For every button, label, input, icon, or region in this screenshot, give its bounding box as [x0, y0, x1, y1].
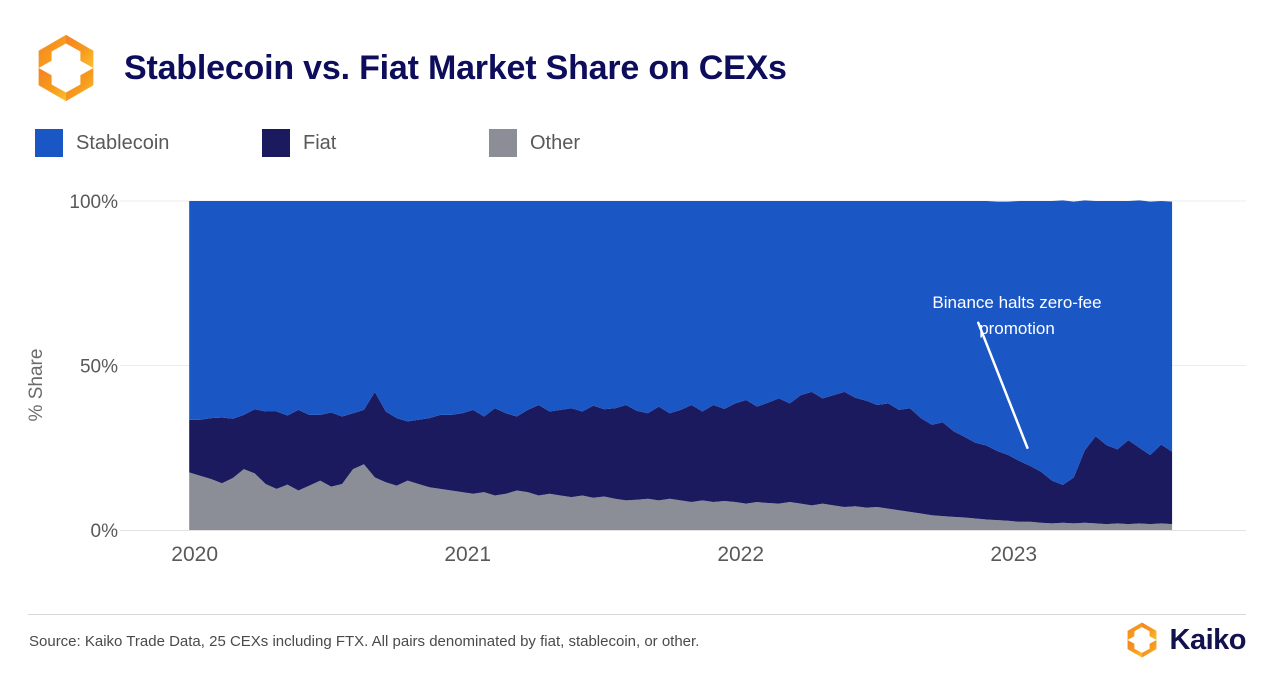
chart-area: 0%50%100% 2020202120222023 % Share Binan…: [0, 180, 1274, 590]
y-axis-tick-labels: 0%50%100%: [69, 192, 118, 542]
y-axis-title-label: % Share: [26, 349, 47, 422]
page-title: Stablecoin vs. Fiat Market Share on CEXs: [124, 49, 787, 88]
annotation-text-line1: Binance halts zero-fee: [932, 293, 1101, 312]
legend-label-fiat: Fiat: [303, 132, 336, 155]
x-tick-label: 2022: [717, 543, 764, 566]
legend-swatch-stablecoin: [35, 129, 63, 157]
y-tick-label: 100%: [69, 192, 118, 213]
legend-label-other: Other: [530, 132, 580, 155]
legend-item-fiat[interactable]: Fiat: [262, 129, 489, 157]
legend-item-other[interactable]: Other: [489, 129, 580, 157]
footer-wordmark: Kaiko: [1170, 624, 1246, 657]
legend-item-stablecoin[interactable]: Stablecoin: [35, 129, 262, 157]
stacked-area-chart: 0%50%100% 2020202120222023 % Share Binan…: [0, 180, 1274, 590]
legend-label-stablecoin: Stablecoin: [76, 132, 169, 155]
x-tick-label: 2023: [990, 543, 1037, 566]
y-axis-title: % Share: [26, 349, 47, 422]
legend-swatch-other: [489, 129, 517, 157]
x-tick-label: 2020: [171, 543, 218, 566]
footer-brand: Kaiko: [1123, 621, 1246, 659]
y-tick-label: 0%: [91, 521, 119, 542]
chart-legend: Stablecoin Fiat Other: [35, 129, 580, 157]
kaiko-hexagon-icon: [30, 32, 102, 104]
y-tick-label: 50%: [80, 357, 118, 378]
page-header: Stablecoin vs. Fiat Market Share on CEXs: [30, 32, 787, 104]
chart-series-areas: [189, 200, 1172, 530]
annotation-text-line2: promotion: [979, 319, 1055, 338]
footer-divider: [28, 614, 1246, 615]
legend-swatch-fiat: [262, 129, 290, 157]
x-axis-tick-labels: 2020202120222023: [171, 543, 1037, 566]
kaiko-hexagon-icon: [1123, 621, 1161, 659]
source-note: Source: Kaiko Trade Data, 25 CEXs includ…: [29, 633, 699, 650]
x-tick-label: 2021: [444, 543, 491, 566]
